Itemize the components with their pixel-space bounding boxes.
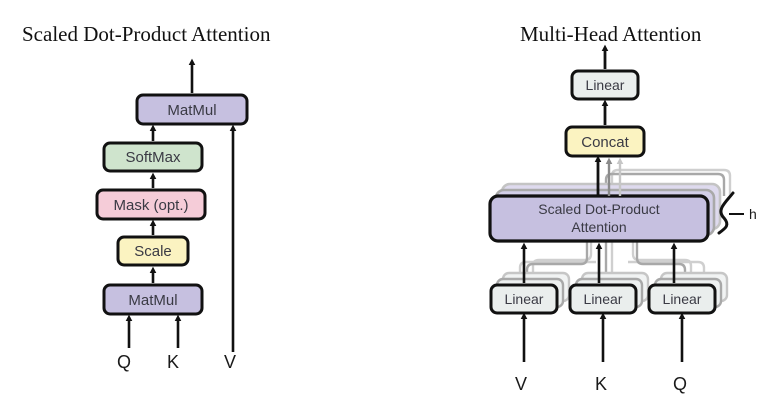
block-label-mask: Mask (opt.) [113, 197, 188, 214]
input-label-k-right: K [595, 374, 607, 394]
block-matmul-top[interactable]: MatMul [137, 95, 247, 124]
block-label-matmul-bottom: MatMul [128, 292, 177, 309]
input-label-q-left: Q [117, 352, 131, 372]
input-label-v-right: V [515, 374, 527, 394]
block-label-linear-q: Linear [663, 291, 702, 307]
block-concat[interactable]: Concat [566, 127, 644, 156]
input-label-q-right: Q [673, 374, 687, 394]
block-label-scale: Scale [134, 243, 172, 260]
panel-title-scaled-dot-product: Scaled Dot-Product Attention [22, 22, 271, 46]
panel-multi-head-attention: Multi-Head Attention [490, 22, 757, 394]
head-count-annotation: h [719, 193, 757, 233]
panel-title-multi-head: Multi-Head Attention [520, 22, 702, 46]
head-count-label: h [749, 206, 757, 222]
block-linear-q[interactable]: Linear [649, 285, 715, 313]
block-linear-k[interactable]: Linear [570, 285, 636, 313]
input-label-k-left: K [167, 352, 179, 372]
block-label-linear-k: Linear [584, 291, 623, 307]
block-label-sdpa-line2: Attention [571, 219, 626, 235]
block-label-matmul-top: MatMul [167, 102, 216, 119]
block-scaled-dot-product-attention[interactable]: Scaled Dot-Product Attention [490, 196, 708, 241]
block-label-softmax: SoftMax [125, 149, 181, 166]
panel-scaled-dot-product-attention: Scaled Dot-Product Attention MatMul Soft… [22, 22, 271, 372]
block-mask[interactable]: Mask (opt.) [97, 190, 205, 219]
block-linear-out[interactable]: Linear [572, 71, 638, 99]
attention-architecture-figure: Scaled Dot-Product Attention MatMul Soft… [0, 0, 779, 418]
block-label-linear-out: Linear [586, 77, 625, 93]
input-label-v-left: V [224, 352, 236, 372]
block-label-sdpa-line1: Scaled Dot-Product [538, 201, 660, 217]
block-matmul-bottom[interactable]: MatMul [104, 285, 202, 314]
block-scale[interactable]: Scale [118, 237, 188, 265]
block-softmax[interactable]: SoftMax [104, 143, 202, 171]
block-linear-v[interactable]: Linear [491, 285, 557, 313]
block-label-linear-v: Linear [505, 291, 544, 307]
block-label-concat: Concat [581, 134, 629, 151]
